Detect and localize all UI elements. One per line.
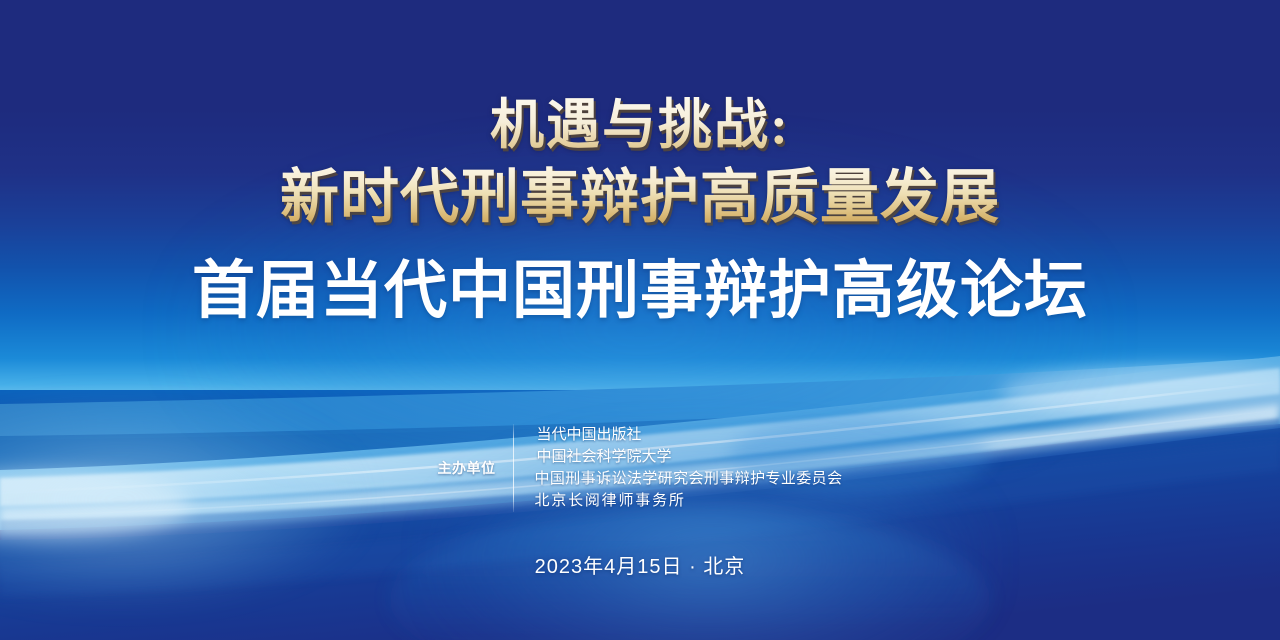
page-title: 首届当代中国刑事辩护高级论坛 [0,254,1280,328]
organizer-item: 当代中国出版社 [534,424,842,446]
organizers-list: 当代中国出版社 中国社会科学院大学 中国刑事诉讼法学研究会刑事辩护专业委员会 北… [514,424,842,512]
event-banner: 机遇与挑战: 新时代刑事辩护高质量发展 首届当代中国刑事辩护高级论坛 主办单位 … [0,0,1280,640]
organizers-block: 主办单位 当代中国出版社 中国社会科学院大学 中国刑事诉讼法学研究会刑事辩护专业… [0,424,1280,512]
organizer-item: 北京长阅律师事务所 [534,490,842,512]
title-line-2: 新时代刑事辩护高质量发展 [0,163,1280,231]
organizer-item: 中国社会科学院大学 [534,446,842,468]
organizer-item: 中国刑事诉讼法学研究会刑事辩护专业委员会 [534,468,842,490]
date-location: 2023年4月15日 · 北京 [0,550,1280,579]
title-line-1: 机遇与挑战: [0,94,1280,156]
organizers-label: 主办单位 [437,458,513,478]
organizers-inner: 主办单位 当代中国出版社 中国社会科学院大学 中国刑事诉讼法学研究会刑事辩护专业… [437,424,842,512]
